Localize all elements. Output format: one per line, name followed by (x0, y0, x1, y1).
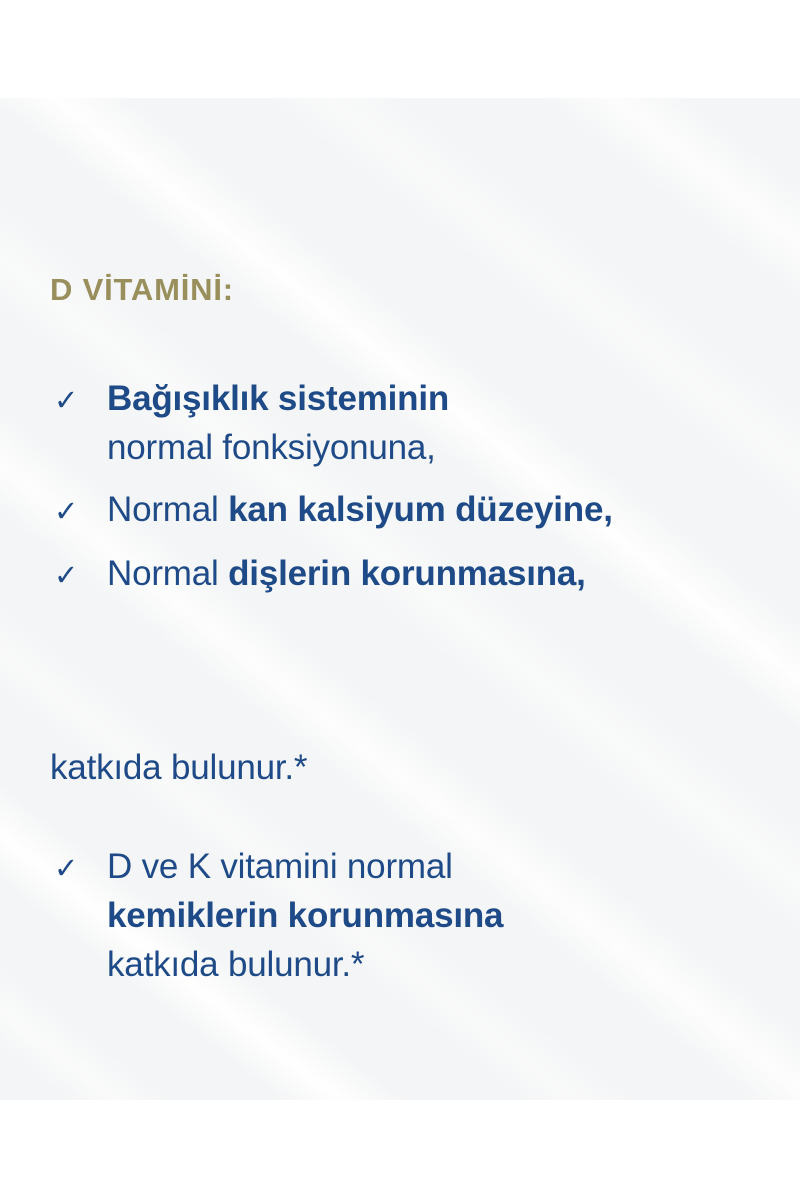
claim-segment-regular: Normal (107, 490, 228, 529)
check-icon: ✓ (50, 842, 107, 896)
infographic-page: D VİTAMİNİ: ✓ Bağışıklık sisteminin norm… (0, 0, 800, 1200)
claim-text: Bağışıklık sisteminin normal fonksiyonun… (107, 374, 770, 472)
claim-segment-bold: kan kalsiyum düzeyine, (228, 490, 613, 529)
claims-closing-line: katkıda bulunur.* (50, 743, 307, 792)
claim-line: kemiklerin korunmasına (107, 891, 770, 940)
claim-line: Normal dişlerin korunmasına, (107, 549, 770, 598)
claim-line: normal fonksiyonuna, (107, 423, 770, 472)
claims-list: ✓ Bağışıklık sisteminin normal fonksiyon… (50, 374, 770, 603)
claim-item-bones: ✓ D ve K vitamini normal kemiklerin koru… (50, 842, 770, 989)
claims-list-secondary: ✓ D ve K vitamini normal kemiklerin koru… (50, 842, 770, 989)
claim-segment-regular: normal fonksiyonuna, (107, 428, 436, 467)
claim-line: D ve K vitamini normal (107, 842, 770, 891)
claim-line: Bağışıklık sisteminin (107, 374, 770, 423)
claim-segment-regular: katkıda bulunur.* (107, 945, 364, 984)
claim-segment-regular: Normal (107, 554, 228, 593)
content-panel: D VİTAMİNİ: ✓ Bağışıklık sisteminin norm… (0, 98, 800, 1100)
claim-segment-bold: dişlerin korunmasına, (228, 554, 586, 593)
check-icon: ✓ (50, 549, 107, 603)
content-area: D VİTAMİNİ: ✓ Bağışıklık sisteminin norm… (0, 98, 800, 1100)
claim-text: Normal dişlerin korunmasına, (107, 549, 770, 598)
claim-item-blood-calcium: ✓ Normal kan kalsiyum düzeyine, (50, 485, 770, 539)
claim-segment-bold: kemiklerin korunmasına (107, 896, 503, 935)
check-icon: ✓ (50, 374, 107, 428)
claim-segment-bold: Bağışıklık sisteminin (107, 379, 449, 418)
page-title: D VİTAMİNİ: (50, 274, 234, 305)
claim-text: D ve K vitamini normal kemiklerin korunm… (107, 842, 770, 989)
claim-item-immune: ✓ Bağışıklık sisteminin normal fonksiyon… (50, 374, 770, 472)
claim-line: katkıda bulunur.* (107, 940, 770, 989)
claim-segment-regular: D ve K vitamini normal (107, 847, 453, 886)
claim-text: Normal kan kalsiyum düzeyine, (107, 485, 770, 534)
check-icon: ✓ (50, 485, 107, 539)
claim-line: Normal kan kalsiyum düzeyine, (107, 485, 770, 534)
claim-item-teeth: ✓ Normal dişlerin korunmasına, (50, 549, 770, 603)
